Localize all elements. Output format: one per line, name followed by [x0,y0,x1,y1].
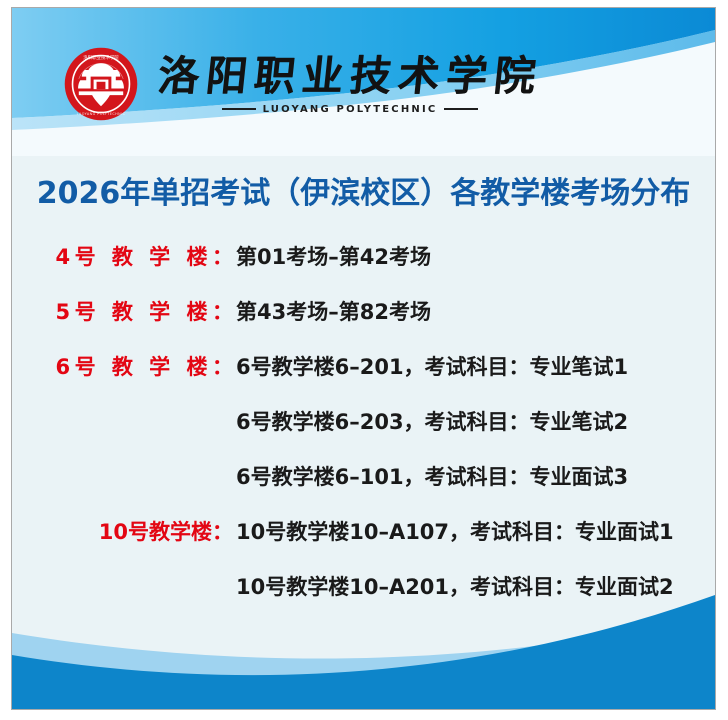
svg-text:LUOYANG POLYTECHNIC: LUOYANG POLYTECHNIC [77,112,126,116]
list-item: 6号 教 学 楼 ： 6号教学楼6–201，考试科目：专业笔试1 [34,351,715,406]
wordmark-rule-left [222,108,256,110]
page-title: 2026年单招考试（伊滨校区）各教学楼考场分布 [12,168,715,212]
room-range-value: 10号教学楼10–A107，考试科目：专业面试1 [236,516,674,546]
list-item: 4号 教 学 楼 ： 第01考场–第42考场 [34,241,715,296]
building-label: 5号 教 学 楼 [34,296,212,326]
room-range-value: 10号教学楼10–A201，考试科目：专业面试2 [236,571,674,601]
room-range-value: 6号教学楼6–201，考试科目：专业笔试1 [236,351,628,381]
institution-name-cn: 洛阳职业技术学院 [156,56,544,97]
header-content: 洛阳职业技术学院 LUOYANG POLYTECHNIC 洛阳职业技术学院 LU… [12,8,715,156]
building-label: 10号教学楼 [34,516,212,546]
room-range-value: 6号教学楼6–101，考试科目：专业面试3 [236,461,628,491]
building-label: 4号 教 学 楼 [34,241,212,271]
building-label: 6号 教 学 楼 [34,351,212,381]
university-crest-icon: 洛阳职业技术学院 LUOYANG POLYTECHNIC [64,47,138,121]
wordmark: 洛阳职业技术学院 LUOYANG POLYTECHNIC [158,56,542,115]
wordmark-en-row: LUOYANG POLYTECHNIC [158,104,542,115]
header-banner: 洛阳职业技术学院 LUOYANG POLYTECHNIC 洛阳职业技术学院 LU… [12,8,715,156]
label-colon: ： [212,516,236,546]
label-colon: ： [212,296,236,326]
list-item: 6号 教 学 楼 ： 6号教学楼6–101，考试科目：专业面试3 [34,461,715,516]
list-item: 6号 教 学 楼 ： 6号教学楼6–203，考试科目：专业笔试2 [34,406,715,461]
poster-page: 洛阳职业技术学院 LUOYANG POLYTECHNIC 洛阳职业技术学院 LU… [11,7,716,710]
institution-name-en: LUOYANG POLYTECHNIC [263,104,438,115]
list-item: 5号 教 学 楼 ： 第43考场–第82考场 [34,296,715,351]
list-item: 10号教学楼 ： 10号教学楼10–A201，考试科目：专业面试2 [34,571,715,626]
exam-room-list: 4号 教 学 楼 ： 第01考场–第42考场 5号 教 学 楼 ： 第43考场–… [12,241,715,626]
room-range-value: 6号教学楼6–203，考试科目：专业笔试2 [236,406,628,436]
list-item: 10号教学楼 ： 10号教学楼10–A107，考试科目：专业面试1 [34,516,715,571]
room-range-value: 第43考场–第82考场 [236,296,431,326]
label-colon: ： [212,241,236,271]
room-range-value: 第01考场–第42考场 [236,241,431,271]
wordmark-rule-right [444,108,478,110]
main-content: 2026年单招考试（伊滨校区）各教学楼考场分布 4号 教 学 楼 ： 第01考场… [12,156,715,709]
label-colon: ： [212,351,236,381]
